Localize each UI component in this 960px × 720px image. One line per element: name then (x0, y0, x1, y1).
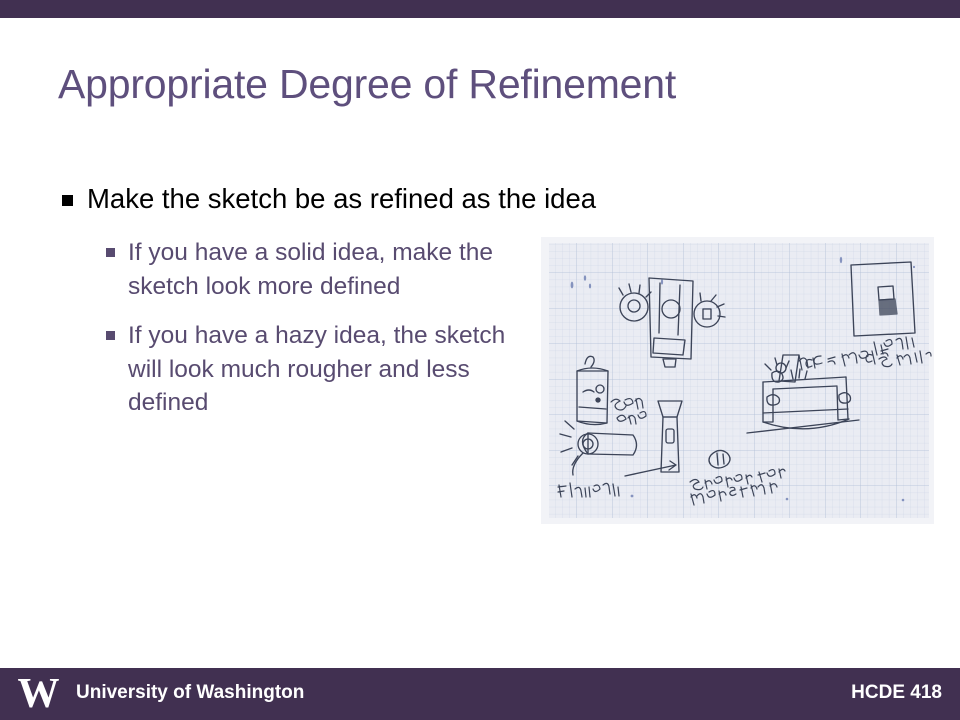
bullet-level1: Make the sketch be as refined as the ide… (62, 182, 602, 217)
footer-institution-label: University of Washington (76, 682, 304, 704)
bullet-level2-label: If you have a solid idea, make the sketc… (128, 236, 536, 303)
bullet-level1-label: Make the sketch be as refined as the ide… (87, 182, 596, 217)
bullet-level2: If you have a solid idea, make the sketc… (106, 236, 536, 303)
bullet-sublist: If you have a solid idea, make the sketc… (106, 236, 536, 436)
square-bullet-icon (106, 331, 115, 340)
sketch-photo (541, 237, 934, 524)
footer-course-label: HCDE 418 (851, 682, 942, 704)
top-accent-bar (0, 0, 960, 18)
uw-w-logo-icon: W (16, 674, 60, 714)
square-bullet-icon (62, 195, 73, 206)
page-title: Appropriate Degree of Refinement (58, 62, 928, 107)
bullet-level2: If you have a hazy idea, the sketch will… (106, 319, 536, 420)
slide: Appropriate Degree of Refinement Make th… (0, 0, 960, 720)
bullet-level2-label: If you have a hazy idea, the sketch will… (128, 319, 536, 420)
square-bullet-icon (106, 248, 115, 257)
